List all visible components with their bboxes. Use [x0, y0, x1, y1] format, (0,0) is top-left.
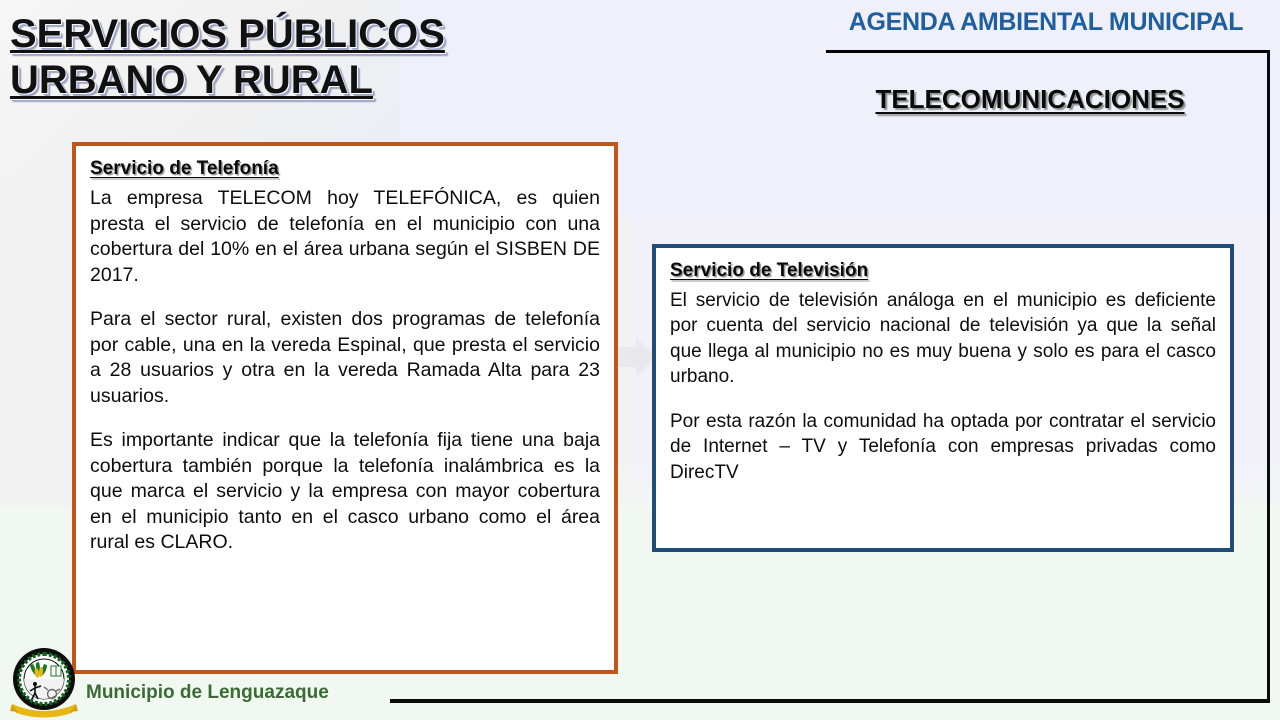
slide-canvas: SERVICIOS PÚBLICOS URBANO Y RURAL AGENDA… [0, 0, 1280, 720]
section-title: TELECOMUNICACIONES [790, 84, 1270, 115]
footer-divider-line [390, 699, 1270, 703]
television-paragraph-1: El servicio de televisión análoga en el … [670, 288, 1216, 390]
footer-municipality-label: Municipio de Lenguazaque [86, 682, 329, 704]
header-divider-horizontal [826, 50, 1270, 53]
telefonia-paragraph-1: La empresa TELECOM hoy TELEFÓNICA, es qu… [90, 186, 600, 288]
agenda-header-title: AGENDA AMBIENTAL MUNICIPAL [826, 8, 1266, 37]
page-title: SERVICIOS PÚBLICOS URBANO Y RURAL [10, 12, 610, 103]
arrow-right-icon [612, 337, 656, 377]
page-title-line-2: URBANO Y RURAL [10, 58, 610, 104]
television-content-box: Servicio de Televisión El servicio de te… [652, 244, 1234, 552]
header-divider-vertical [1267, 50, 1270, 702]
telefonia-paragraph-3: Es importante indicar que la telefonía f… [90, 428, 600, 556]
telefonia-content-box: Servicio de Telefonía La empresa TELECOM… [72, 142, 618, 674]
television-heading: Servicio de Televisión [670, 260, 1216, 282]
telefonia-paragraph-2: Para el sector rural, existen dos progra… [90, 307, 600, 409]
page-title-line-1: SERVICIOS PÚBLICOS [10, 12, 610, 58]
municipal-seal-icon [6, 646, 82, 718]
television-paragraph-2: Por esta razón la comunidad ha optada po… [670, 409, 1216, 485]
telefonia-heading: Servicio de Telefonía [90, 158, 600, 180]
